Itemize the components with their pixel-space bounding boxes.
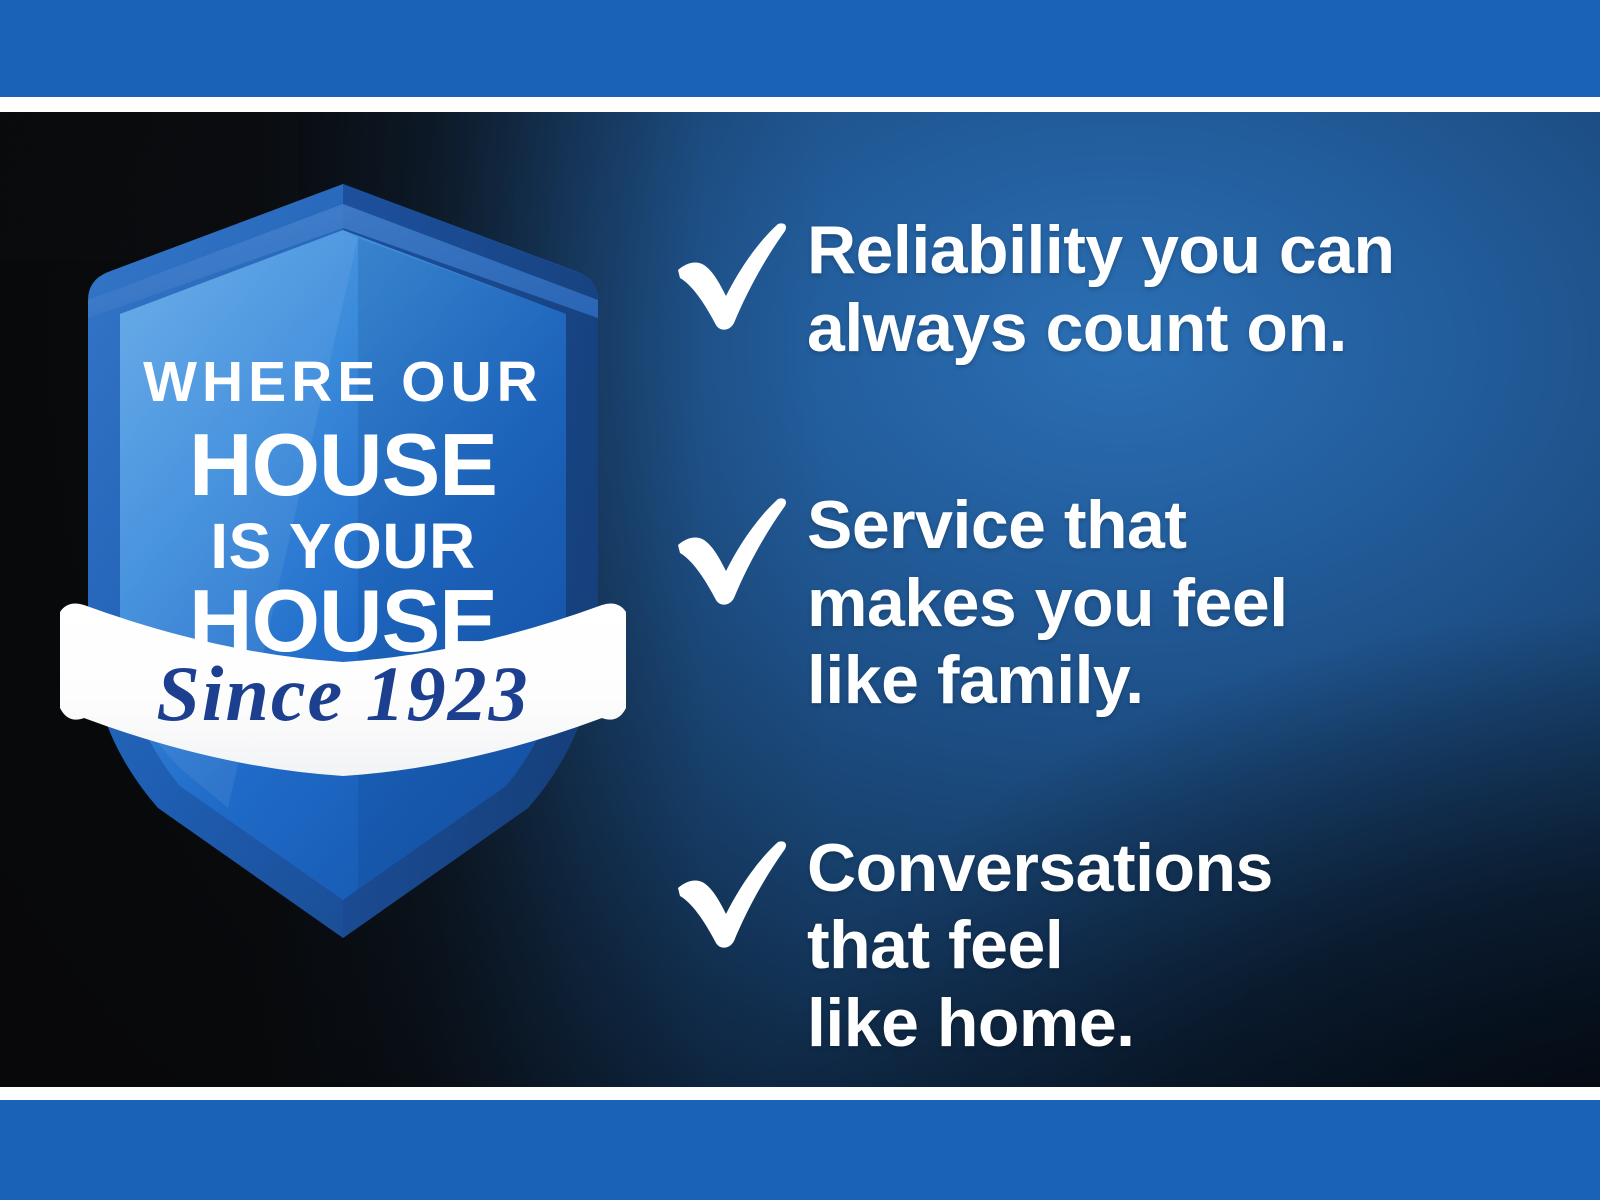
list-item: Reliability you can always count on. (672, 212, 1552, 367)
checkmark-icon (672, 497, 807, 615)
list-item-label: Conversations that feel like home. (807, 830, 1552, 1063)
promo-graphic: WHERE OUR HOUSE IS YOUR HOUSE Since 1923… (0, 0, 1600, 1200)
top-hairline-divider (0, 97, 1600, 112)
benefits-list: Reliability you can always count on. Ser… (672, 200, 1552, 1062)
checkmark-icon (672, 840, 807, 958)
list-item-label: Reliability you can always count on. (807, 212, 1552, 367)
list-item: Conversations that feel like home. (672, 830, 1552, 1063)
bottom-brand-bar (0, 1100, 1600, 1200)
list-item-label: Service that makes you feel like family. (807, 487, 1552, 720)
checkmark-icon (672, 222, 807, 340)
list-item: Service that makes you feel like family. (672, 487, 1552, 720)
shield-badge: WHERE OUR HOUSE IS YOUR HOUSE Since 1923 (58, 168, 628, 958)
badge-line-1: WHERE OUR (143, 350, 543, 414)
badge-text-block: WHERE OUR HOUSE IS YOUR HOUSE (143, 350, 543, 670)
top-brand-bar (0, 0, 1600, 97)
ribbon-label: Since 1923 (156, 650, 529, 737)
badge-line-2: HOUSE (189, 415, 497, 514)
bottom-hairline-divider (0, 1087, 1600, 1100)
